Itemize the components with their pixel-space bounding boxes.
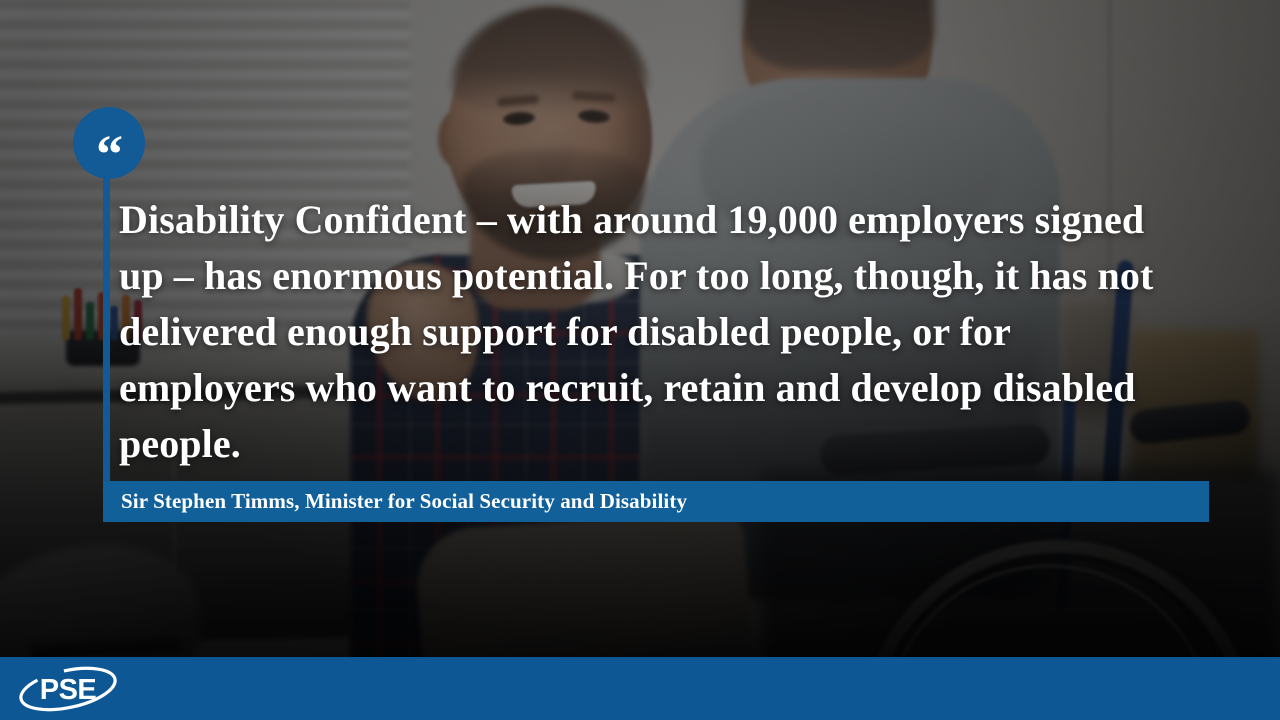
quote-pin-stem	[103, 150, 110, 502]
quote-bubble: “	[73, 107, 145, 179]
attribution-text: Sir Stephen Timms, Minister for Social S…	[103, 489, 687, 514]
quote-card: “ Disability Confident – with around 19,…	[0, 0, 1280, 720]
pse-logo-icon[interactable]: PSE	[16, 666, 120, 712]
quote-text: Disability Confident – with around 19,00…	[119, 192, 1189, 472]
svg-text:PSE: PSE	[40, 674, 97, 706]
quotation-mark-icon: “	[96, 127, 122, 181]
footer-bar: PSE	[0, 657, 1280, 720]
attribution-bar: Sir Stephen Timms, Minister for Social S…	[103, 481, 1209, 522]
